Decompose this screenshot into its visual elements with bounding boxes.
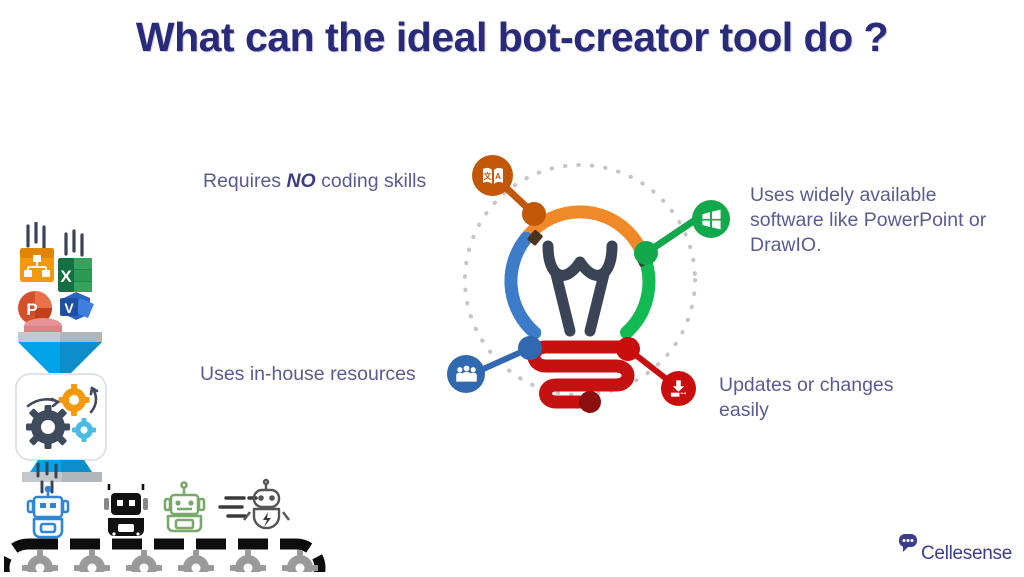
large-gear bbox=[26, 405, 70, 449]
callout-text-before: Requires bbox=[203, 170, 286, 192]
windows-icon bbox=[692, 200, 730, 238]
callout-emphasis-no: NO bbox=[286, 170, 315, 192]
gears-processor-box bbox=[16, 374, 106, 460]
callout-no-coding-skills: Requires NO coding skills bbox=[203, 169, 426, 194]
robot-gray-moving bbox=[220, 480, 289, 528]
speed-lines bbox=[220, 498, 256, 516]
callout-available-software: Uses widely available software like Powe… bbox=[750, 183, 990, 258]
input-to-bot-pipeline: X P V bbox=[8, 222, 118, 482]
brand-logo: Cellesense bbox=[897, 532, 1012, 564]
bulb-filament-left-leg bbox=[556, 274, 570, 331]
callout-updates-changes: Updates or changes easily bbox=[719, 373, 919, 423]
conveyor-track bbox=[4, 544, 320, 572]
page-title: What can the ideal bot-creator tool do ? bbox=[0, 14, 1024, 61]
people-group-icon bbox=[447, 355, 485, 393]
bulb-arc-blue bbox=[511, 238, 535, 332]
robot-conveyor-belt bbox=[4, 462, 334, 572]
connector-dot-green bbox=[634, 241, 658, 265]
excel-icon: X bbox=[58, 258, 92, 292]
project-icon bbox=[20, 248, 54, 282]
bulb-base-end-dot bbox=[579, 391, 601, 413]
robot-blue bbox=[28, 487, 68, 537]
svg-text:文: 文 bbox=[483, 171, 492, 181]
bulb-base-serpentine bbox=[534, 347, 628, 402]
visio-icon: V bbox=[60, 292, 94, 320]
bulb-filament-right-leg bbox=[590, 274, 604, 331]
connector-dot-red bbox=[616, 337, 640, 361]
robot-green bbox=[165, 483, 204, 532]
brand-name: Cellesense bbox=[921, 544, 1012, 564]
robot-black bbox=[104, 484, 148, 536]
download-icon bbox=[661, 371, 696, 406]
callout-text-after: coding skills bbox=[316, 170, 427, 192]
connector-dot-blue bbox=[518, 336, 542, 360]
speech-bubble-icon bbox=[897, 532, 919, 564]
lightbulb-diagram bbox=[430, 140, 730, 460]
svg-text:V: V bbox=[64, 300, 74, 316]
callout-in-house-resources: Uses in-house resources bbox=[200, 362, 416, 387]
svg-text:X: X bbox=[60, 267, 72, 286]
funnel bbox=[18, 332, 102, 378]
svg-text:A: A bbox=[495, 172, 501, 181]
conveyor-gears bbox=[22, 550, 318, 572]
connector-dot-orange bbox=[522, 202, 546, 226]
translate-icon: A 文 bbox=[472, 155, 513, 196]
svg-text:P: P bbox=[26, 300, 37, 319]
